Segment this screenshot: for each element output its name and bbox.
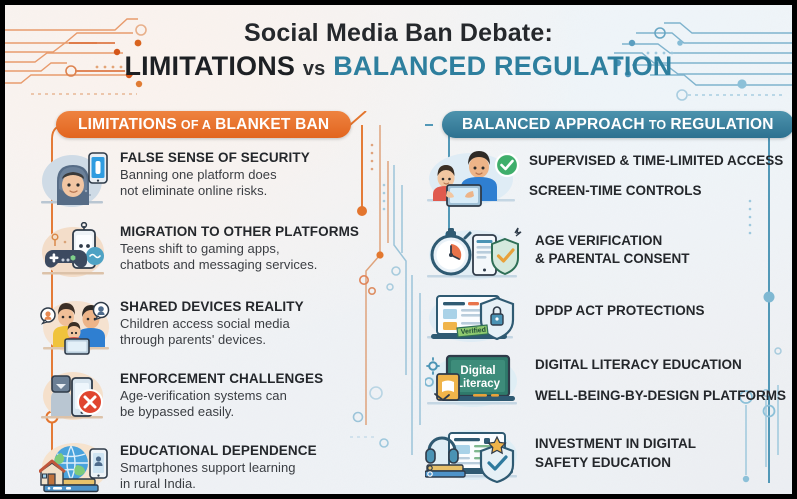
- list-item-text: ENFORCEMENT CHALLENGES Age-verification …: [111, 368, 369, 421]
- balanced-banner-main: BALANCED APPROACH: [462, 116, 645, 134]
- list-item-text: FALSE SENSE OF SECURITY Banning one plat…: [111, 147, 369, 200]
- list-item: Verified DPDP ACT PROTECTIONS: [425, 290, 790, 346]
- infographic-board: Social Media Ban Debate: LIMITATIONS vs …: [5, 5, 792, 494]
- hooded-teen-phone-icon: [39, 147, 111, 209]
- list-item-title-line2: SAFETY EDUCATION: [535, 455, 790, 471]
- gamepad-chatbot-phone-icon: [39, 222, 111, 282]
- title-balanced-regulation: BALANCED REGULATION: [333, 51, 672, 81]
- list-item-title: EDUCATIONAL DEPENDENCE: [120, 443, 369, 458]
- list-item-title-line2: & PARENTAL CONSENT: [535, 251, 790, 267]
- list-item-text: MIGRATION TO OTHER PLATFORMS Teens shift…: [111, 222, 369, 274]
- list-item-title: MIGRATION TO OTHER PLATFORMS: [120, 224, 369, 239]
- list-item-title-line2: WELL-BEING-BY-DESIGN PLATFORMS: [535, 388, 790, 404]
- list-item: AGE VERIFICATION & PARENTAL CONSENT: [425, 225, 790, 285]
- globe-books-phone-icon: [39, 439, 115, 494]
- list-item-desc-line1: Banning one platform does: [120, 167, 369, 183]
- balanced-banner-tail: REGULATION: [670, 116, 773, 134]
- list-item-text: DIGITAL LITERACY EDUCATION WELL-BEING-BY…: [525, 350, 790, 405]
- list-item-title-line1: SUPERVISED & TIME-LIMITED ACCESS: [529, 153, 790, 169]
- blocked-age-check-icon: [39, 368, 111, 426]
- list-item: MIGRATION TO OTHER PLATFORMS Teens shift…: [39, 222, 369, 282]
- title-vs: vs: [303, 58, 326, 80]
- list-item-desc-line2: chatbots and messaging services.: [120, 257, 369, 273]
- list-item: SHARED DEVICES REALITY Children access s…: [39, 295, 369, 357]
- family-shared-tablet-icon: [39, 295, 113, 357]
- list-item-title: SHARED DEVICES REALITY: [120, 299, 369, 314]
- list-item-desc-line1: Children access social media: [120, 316, 369, 332]
- limitations-banner-tail: BLANKET BAN: [215, 116, 329, 134]
- list-item-desc-line2: through parents' devices.: [120, 332, 369, 348]
- list-item: SUPERVISED & TIME-LIMITED ACCESS SCREEN-…: [425, 147, 790, 209]
- list-item-text: SHARED DEVICES REALITY Children access s…: [113, 295, 369, 349]
- list-item-title: FALSE SENSE OF SECURITY: [120, 150, 369, 165]
- list-item-desc-line2: be bypassed easily.: [120, 404, 369, 420]
- list-item: INVESTMENT IN DIGITAL SAFETY EDUCATION: [425, 427, 790, 487]
- laptop-books-shield-invest-icon: [425, 427, 525, 487]
- list-item-text: DPDP ACT PROTECTIONS: [525, 290, 790, 319]
- list-item: FALSE SENSE OF SECURITY Banning one plat…: [39, 147, 369, 209]
- list-item-desc-line1: Teens shift to gaming apps,: [120, 241, 369, 257]
- parent-child-tablet-check-icon: [425, 147, 525, 209]
- verified-document-shield-icon: Verified: [425, 290, 525, 346]
- balanced-banner-to: TO: [649, 118, 667, 132]
- infographic-canvas: Social Media Ban Debate: LIMITATIONS vs …: [0, 0, 797, 499]
- title-line-1: Social Media Ban Debate:: [5, 19, 792, 48]
- list-item-text: INVESTMENT IN DIGITAL SAFETY EDUCATION: [525, 427, 790, 472]
- list-item-desc-line2: not eliminate online risks.: [120, 183, 369, 199]
- limitations-banner-of-a: OF A: [181, 118, 211, 132]
- limitations-banner: LIMITATIONS OF A BLANKET BAN: [56, 111, 351, 138]
- list-item-title-line2: SCREEN-TIME CONTROLS: [529, 183, 790, 199]
- list-item-title: ENFORCEMENT CHALLENGES: [120, 371, 369, 386]
- digital-literacy-board-icon: Digital Literacy: [425, 350, 525, 412]
- list-item: ENFORCEMENT CHALLENGES Age-verification …: [39, 368, 369, 426]
- list-item-title-line1: INVESTMENT IN DIGITAL: [535, 436, 790, 452]
- title-block: Social Media Ban Debate: LIMITATIONS vs …: [5, 19, 792, 82]
- list-item-title-line1: DIGITAL LITERACY EDUCATION: [535, 357, 790, 373]
- stopwatch-phone-shield-icon: [425, 225, 525, 285]
- title-line-2: LIMITATIONS vs BALANCED REGULATION: [5, 50, 792, 82]
- list-item-desc-line1: Age-verification systems can: [120, 388, 369, 404]
- digital-literacy-label-line1: Digital: [460, 365, 495, 377]
- limitations-banner-main: LIMITATIONS: [78, 116, 177, 134]
- list-item-text: AGE VERIFICATION & PARENTAL CONSENT: [525, 225, 790, 268]
- list-item-text: SUPERVISED & TIME-LIMITED ACCESS SCREEN-…: [525, 147, 790, 200]
- list-item-text: EDUCATIONAL DEPENDENCE Smartphones suppo…: [115, 439, 369, 493]
- list-item: Digital Literacy: [425, 350, 790, 412]
- balanced-banner: BALANCED APPROACH TO REGULATION: [442, 111, 792, 138]
- list-item-desc-line2: in rural India.: [120, 476, 369, 492]
- list-item-title-line1: AGE VERIFICATION: [535, 233, 790, 249]
- digital-literacy-label-line2: Literacy: [456, 378, 501, 390]
- list-item-desc-line1: Smartphones support learning: [120, 460, 369, 476]
- title-limitations: LIMITATIONS: [124, 51, 295, 81]
- list-item: EDUCATIONAL DEPENDENCE Smartphones suppo…: [39, 439, 369, 494]
- list-item-title-line1: DPDP ACT PROTECTIONS: [535, 303, 790, 319]
